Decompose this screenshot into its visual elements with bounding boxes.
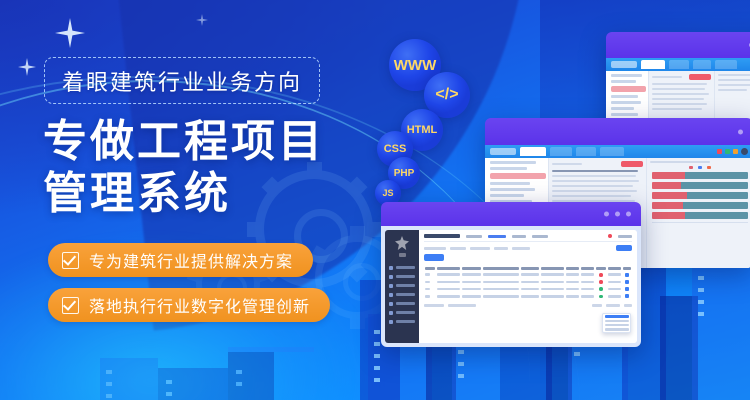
chart-axis bbox=[652, 222, 748, 223]
app-tab-1[interactable] bbox=[641, 60, 665, 69]
city-skyline-left bbox=[80, 330, 340, 400]
app-tab-4[interactable] bbox=[715, 60, 737, 69]
context-menu-item-3 bbox=[605, 324, 629, 327]
legend-item-c bbox=[707, 166, 711, 169]
sidebar-item-7[interactable] bbox=[385, 317, 419, 326]
sidebar-item-3[interactable] bbox=[385, 281, 419, 290]
feature-badge-label: 落地执行行业数字化管理创新 bbox=[89, 293, 310, 317]
contract-icon bbox=[389, 284, 393, 288]
app-top-actions bbox=[717, 148, 748, 155]
message-icon[interactable] bbox=[725, 149, 730, 154]
feature-badge-1[interactable]: 专为建筑行业提供解决方案 bbox=[48, 243, 313, 277]
promo-banner: 着眼建筑行业业务方向 专做工程项目 管理系统 专为建筑行业提供解决方案 落地执行… bbox=[0, 0, 750, 400]
chart-bar bbox=[652, 182, 748, 189]
admin-sidebar[interactable] bbox=[385, 230, 419, 343]
stacked-bar-chart bbox=[650, 172, 750, 223]
table-row bbox=[424, 278, 632, 285]
divider bbox=[424, 241, 632, 242]
new-record-button[interactable] bbox=[424, 254, 444, 261]
report-icon bbox=[389, 311, 393, 315]
search-label bbox=[424, 247, 446, 250]
finance-icon bbox=[389, 293, 393, 297]
context-menu-item-4 bbox=[605, 328, 629, 331]
feature-badge-label: 专为建筑行业提供解决方案 bbox=[89, 248, 293, 272]
browser-chrome-bar bbox=[485, 118, 750, 145]
sidebar-item-6[interactable] bbox=[385, 308, 419, 317]
user-name[interactable] bbox=[618, 235, 632, 238]
sidebar-item-4[interactable] bbox=[385, 290, 419, 299]
logo-icon bbox=[395, 236, 409, 250]
app-tab-2[interactable] bbox=[550, 147, 572, 156]
app-tab-2[interactable] bbox=[669, 60, 689, 69]
admin-main bbox=[419, 230, 637, 343]
row-action-icon[interactable] bbox=[625, 273, 629, 277]
checkbox-checked-icon bbox=[62, 297, 79, 314]
row-action-icon[interactable] bbox=[625, 280, 629, 284]
browser-chrome-bar bbox=[606, 32, 750, 58]
table-row bbox=[424, 293, 632, 300]
settings-icon bbox=[389, 320, 393, 324]
sidebar-item-5[interactable] bbox=[385, 299, 419, 308]
front-app-body bbox=[381, 226, 641, 347]
headline-line-1: 专做工程项目 bbox=[43, 116, 383, 168]
window-dots bbox=[738, 129, 743, 134]
logo-subtitle bbox=[399, 253, 406, 257]
status-badge bbox=[599, 280, 603, 284]
admin-app bbox=[385, 230, 637, 343]
app-tab-4[interactable] bbox=[600, 147, 624, 156]
admin-header bbox=[424, 234, 632, 238]
table-row bbox=[424, 271, 632, 278]
status-badge bbox=[599, 273, 603, 277]
filter-select-1[interactable] bbox=[450, 247, 466, 250]
chart-bar bbox=[652, 212, 748, 219]
header-menu-1[interactable] bbox=[466, 235, 482, 238]
project-icon bbox=[389, 275, 393, 279]
primary-action-button[interactable] bbox=[621, 161, 643, 167]
app-logo bbox=[490, 148, 516, 155]
avatar[interactable] bbox=[741, 148, 748, 155]
app-tab-3[interactable] bbox=[693, 60, 711, 69]
front-admin-window[interactable] bbox=[381, 202, 641, 347]
filter-select-2[interactable] bbox=[470, 247, 490, 250]
app-top-nav bbox=[606, 58, 750, 71]
tagline-box: 着眼建筑行业业务方向 bbox=[44, 57, 320, 104]
table-row bbox=[424, 286, 632, 293]
chart-legend bbox=[650, 166, 750, 169]
filter-select-3[interactable] bbox=[494, 247, 508, 250]
people-icon bbox=[389, 302, 393, 306]
checkbox-checked-icon bbox=[62, 252, 79, 269]
chart-bar bbox=[652, 172, 748, 179]
headline-line-2: 管理系统 bbox=[43, 168, 383, 220]
row-context-menu[interactable] bbox=[602, 313, 631, 333]
module-title bbox=[424, 234, 460, 238]
app-top-nav bbox=[485, 145, 750, 158]
feature-badge-list: 专为建筑行业提供解决方案 落地执行行业数字化管理创新 bbox=[48, 243, 330, 333]
browser-chrome-bar bbox=[381, 202, 641, 226]
app-tab-1[interactable] bbox=[520, 147, 546, 156]
sidebar-item-1[interactable] bbox=[385, 263, 419, 272]
context-menu-item-1 bbox=[605, 315, 629, 318]
feature-badge-2[interactable]: 落地执行行业数字化管理创新 bbox=[48, 288, 330, 322]
pagination[interactable] bbox=[424, 304, 632, 307]
header-menu-2[interactable] bbox=[488, 235, 506, 238]
legend-item-b bbox=[698, 166, 702, 169]
row-action-icon[interactable] bbox=[625, 294, 629, 298]
header-menu-4[interactable] bbox=[532, 235, 548, 238]
chart-bar bbox=[652, 192, 748, 199]
app-chart-pane bbox=[646, 158, 750, 268]
search-filter-row bbox=[424, 245, 632, 251]
status-badge bbox=[599, 287, 603, 291]
app-tab-3[interactable] bbox=[576, 147, 596, 156]
window-dots bbox=[604, 212, 631, 217]
page-title: 专做工程项目 管理系统 bbox=[43, 116, 383, 220]
chart-bar bbox=[652, 202, 748, 209]
header-menu-3[interactable] bbox=[512, 235, 526, 238]
alert-icon[interactable] bbox=[717, 149, 722, 154]
primary-action-button[interactable] bbox=[689, 74, 711, 80]
context-menu-item-2 bbox=[605, 320, 629, 323]
status-badge bbox=[599, 295, 603, 299]
bell-icon[interactable] bbox=[733, 149, 738, 154]
notification-badge[interactable] bbox=[608, 234, 612, 238]
legend-item-a bbox=[689, 166, 693, 169]
search-submit-button[interactable] bbox=[616, 245, 632, 251]
app-logo bbox=[611, 61, 637, 68]
dashboard-icon bbox=[389, 266, 393, 270]
sidebar-item-2[interactable] bbox=[385, 272, 419, 281]
records-table bbox=[424, 265, 632, 300]
search-input[interactable] bbox=[512, 247, 530, 250]
tagline-text: 着眼建筑行业业务方向 bbox=[62, 65, 302, 97]
row-action-icon[interactable] bbox=[625, 287, 629, 291]
